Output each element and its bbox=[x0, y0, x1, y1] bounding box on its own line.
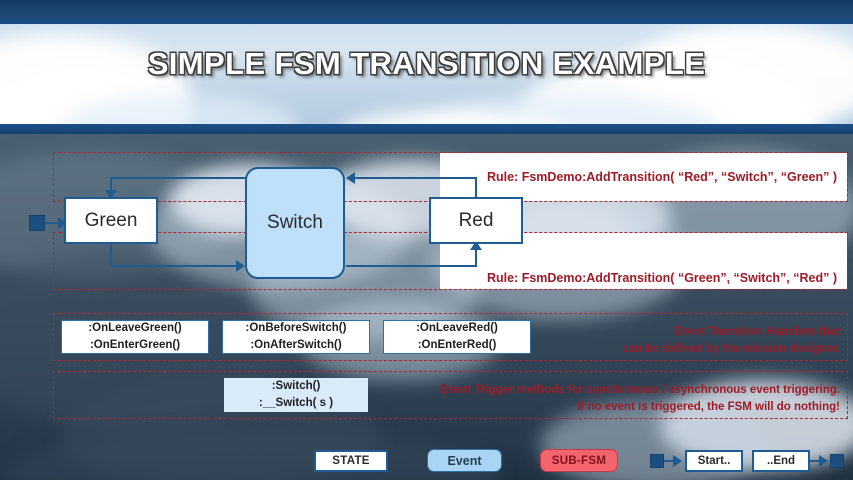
handler-box-green[interactable]: :OnLeaveGreen() :OnEnterGreen() bbox=[61, 320, 209, 354]
state-node-green[interactable]: Green bbox=[64, 197, 158, 244]
legend-event-swatch: Event bbox=[427, 449, 502, 472]
trigger-box-switch[interactable]: :Switch() :__Switch( s ) bbox=[224, 378, 368, 412]
legend-start-square-icon bbox=[650, 454, 664, 468]
rule-callout-red-switch-green: Rule: FsmDemo:AddTransition( “Red”, “Swi… bbox=[440, 153, 847, 201]
handler-line-2: :OnEnterRed() bbox=[418, 337, 497, 354]
event-label: Switch bbox=[267, 212, 323, 234]
legend-event-label: Event bbox=[447, 454, 481, 468]
state-node-red[interactable]: Red bbox=[429, 197, 523, 244]
handler-box-switch[interactable]: :OnBeforeSwitch() :OnAfterSwitch() bbox=[222, 320, 370, 354]
state-label: Green bbox=[85, 210, 138, 232]
handler-line-1: :OnLeaveRed() bbox=[416, 320, 498, 337]
handlers-note-line-2: can be defined by the mission designer. bbox=[548, 341, 840, 358]
arrowhead-right-icon bbox=[673, 455, 682, 467]
start-square-marker bbox=[29, 215, 45, 231]
triggers-note: Event Trigger methods for synchronous / … bbox=[390, 382, 840, 417]
header-bottom-edge bbox=[0, 124, 853, 134]
state-label: Red bbox=[459, 210, 494, 232]
legend-end-box: ..End bbox=[752, 450, 810, 472]
trigger-line-2: :__Switch( s ) bbox=[259, 395, 333, 412]
legend-start-box: Start.. bbox=[685, 450, 743, 472]
handler-line-2: :OnEnterGreen() bbox=[90, 337, 180, 354]
legend-state-swatch: STATE bbox=[314, 450, 388, 472]
legend-end-label: ..End bbox=[767, 455, 795, 467]
event-node-switch[interactable]: Switch bbox=[245, 167, 345, 279]
triggers-note-line-1: Event Trigger methods for synchronous / … bbox=[390, 382, 840, 399]
trigger-line-1: :Switch() bbox=[272, 378, 321, 395]
legend-subfsm-swatch: SUB-FSM bbox=[540, 449, 618, 472]
connector-line bbox=[346, 265, 477, 267]
triggers-note-line-2: If no event is triggered, the FSM will d… bbox=[390, 399, 840, 416]
arrowhead-right-icon bbox=[819, 455, 828, 467]
page-title: SIMPLE FSM TRANSITION EXAMPLE bbox=[0, 46, 853, 82]
rule-text: Rule: FsmDemo:AddTransition( “Red”, “Swi… bbox=[487, 170, 837, 184]
handler-box-red[interactable]: :OnLeaveRed() :OnEnterRed() bbox=[383, 320, 531, 354]
legend-state-label: STATE bbox=[332, 455, 370, 467]
handlers-note-line-1: Event Transition Handlers that bbox=[548, 324, 840, 341]
handler-line-1: :OnLeaveGreen() bbox=[88, 320, 181, 337]
arrowhead-left-icon bbox=[346, 172, 355, 184]
legend-subfsm-label: SUB-FSM bbox=[552, 455, 607, 467]
connector-line bbox=[475, 177, 477, 198]
arrowhead-right-icon bbox=[236, 260, 245, 272]
connector-line bbox=[352, 177, 477, 179]
handlers-note: Event Transition Handlers that can be de… bbox=[548, 324, 840, 359]
connector-line bbox=[110, 177, 251, 179]
handler-line-1: :OnBeforeSwitch() bbox=[246, 320, 347, 337]
legend-start-label: Start.. bbox=[698, 455, 731, 467]
handler-line-2: :OnAfterSwitch() bbox=[250, 337, 341, 354]
connector-line bbox=[110, 265, 241, 267]
rule-text: Rule: FsmDemo:AddTransition( “Green”, “S… bbox=[487, 271, 837, 285]
connector-line bbox=[110, 243, 112, 267]
slide-canvas: SIMPLE FSM TRANSITION EXAMPLE Rule: FsmD… bbox=[0, 0, 853, 480]
legend-end-square-icon bbox=[830, 454, 844, 468]
connector-line bbox=[475, 248, 477, 266]
